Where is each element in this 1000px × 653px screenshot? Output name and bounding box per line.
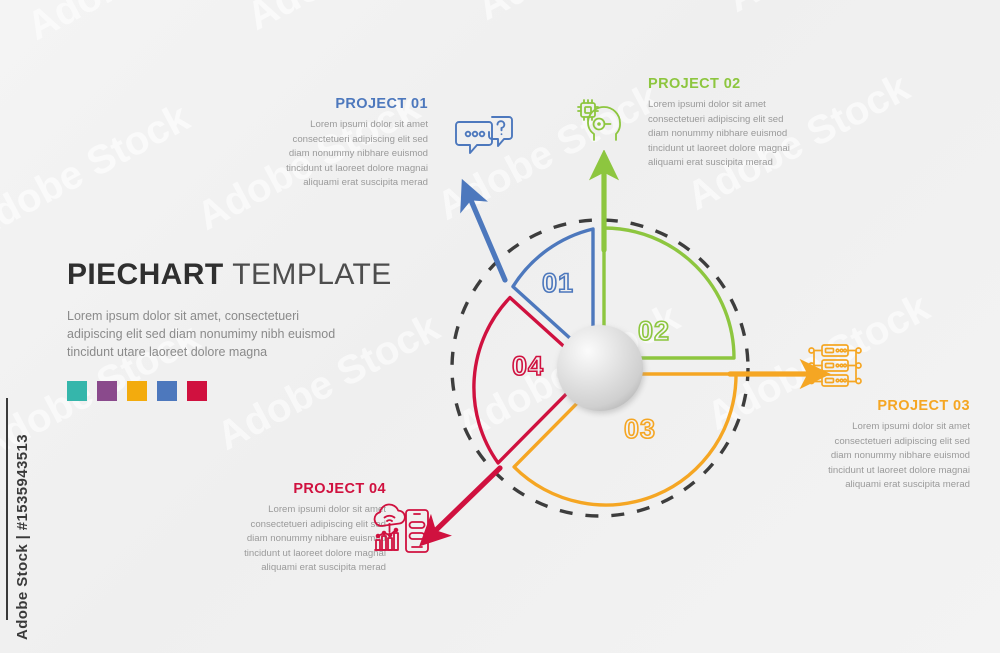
pie-label-01: 01	[542, 268, 574, 298]
swatch-blue	[157, 381, 177, 401]
project-title-01: PROJECT 01	[270, 96, 428, 112]
pie-arrow-04	[434, 468, 500, 532]
pie-chart: 01 02 03 04	[400, 150, 920, 550]
credit-rule	[6, 398, 8, 620]
project-description-04: Lorem ipsumi dolor sit amet consectetuer…	[228, 503, 386, 576]
infographic-canvas: Adobe Stock Adobe Stock Adobe Stock Adob…	[0, 0, 1000, 653]
pie-arrow-01	[470, 198, 505, 280]
pie-label-02: 02	[638, 316, 670, 346]
swatch-purple	[97, 381, 117, 401]
watermark-tile: Adobe Stock	[20, 0, 257, 50]
ai-head-chip-icon	[576, 96, 624, 149]
watermark-tile: Adobe Stock	[720, 0, 957, 22]
watermark-tile: Adobe Stock	[0, 95, 197, 250]
stock-credit-label: Adobe Stock | #1535943513	[14, 434, 31, 640]
project-block-04: PROJECT 04 Lorem ipsumi dolor sit amet c…	[228, 481, 386, 576]
project-title-04: PROJECT 04	[228, 481, 386, 497]
pie-label-03: 03	[624, 414, 656, 444]
page-title-bold: PIECHART	[67, 258, 224, 291]
color-swatch-row	[67, 381, 367, 401]
watermark-tile: Adobe Stock	[240, 0, 477, 40]
swatch-teal	[67, 381, 87, 401]
page-title-light: TEMPLATE	[232, 258, 391, 291]
swatch-amber	[127, 381, 147, 401]
swatch-crimson	[187, 381, 207, 401]
page-description: Lorem ipsum dolor sit amet, consectetuer…	[67, 307, 355, 361]
title-block: PIECHART TEMPLATE Lorem ipsum dolor sit …	[67, 258, 367, 401]
page-title: PIECHART TEMPLATE	[67, 258, 367, 291]
project-title-02: PROJECT 02	[648, 76, 806, 92]
pie-label-04: 04	[512, 351, 544, 381]
watermark-tile: Adobe Stock	[470, 0, 707, 30]
chart-center-hub	[557, 325, 643, 411]
